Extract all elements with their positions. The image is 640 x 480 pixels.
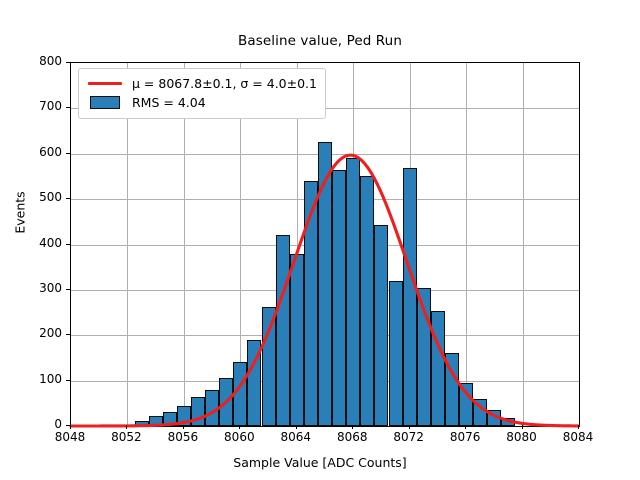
x-tick-mark [183, 425, 184, 429]
legend-patch-swatch-icon [87, 96, 123, 109]
x-tick-label: 8072 [379, 430, 439, 444]
legend-label-fit: μ = 8067.8±0.1, σ = 4.0±0.1 [132, 76, 317, 91]
y-tick-mark [66, 425, 70, 426]
y-tick-label: 100 [18, 372, 62, 386]
legend-label-histogram: RMS = 4.04 [132, 95, 206, 110]
histogram-figure: Baseline value, Ped Run 8048805280568060… [0, 0, 640, 480]
chart-legend: μ = 8067.8±0.1, σ = 4.0±0.1 RMS = 4.04 [78, 68, 326, 119]
x-tick-label: 8068 [322, 430, 382, 444]
x-tick-label: 8084 [548, 430, 608, 444]
x-tick-label: 8076 [435, 430, 495, 444]
legend-entry-fit: μ = 8067.8±0.1, σ = 4.0±0.1 [87, 74, 317, 93]
x-tick-label: 8052 [96, 430, 156, 444]
x-tick-mark [578, 425, 579, 429]
y-tick-mark [66, 334, 70, 335]
x-tick-mark [522, 425, 523, 429]
x-axis-label: Sample Value [ADC Counts] [0, 455, 640, 470]
x-tick-mark [126, 425, 127, 429]
y-tick-label: 200 [18, 326, 62, 340]
y-tick-mark [66, 198, 70, 199]
y-tick-mark [66, 62, 70, 63]
x-tick-mark [70, 425, 71, 429]
y-tick-mark [66, 107, 70, 108]
legend-line-swatch-icon [87, 82, 123, 85]
y-tick-mark [66, 244, 70, 245]
x-tick-label: 8064 [266, 430, 326, 444]
y-tick-mark [66, 380, 70, 381]
x-tick-label: 8060 [209, 430, 269, 444]
x-tick-label: 8056 [153, 430, 213, 444]
x-tick-label: 8080 [492, 430, 552, 444]
x-tick-mark [296, 425, 297, 429]
y-tick-label: 0 [18, 417, 62, 431]
x-tick-label: 8048 [40, 430, 100, 444]
x-tick-mark [352, 425, 353, 429]
y-tick-label: 700 [18, 99, 62, 113]
chart-title: Baseline value, Ped Run [0, 33, 640, 49]
y-tick-mark [66, 289, 70, 290]
y-axis-label: Events [13, 113, 28, 313]
x-tick-mark [409, 425, 410, 429]
x-tick-mark [465, 425, 466, 429]
x-tick-mark [239, 425, 240, 429]
y-tick-mark [66, 153, 70, 154]
y-tick-label: 800 [18, 54, 62, 68]
legend-entry-histogram: RMS = 4.04 [87, 93, 317, 112]
